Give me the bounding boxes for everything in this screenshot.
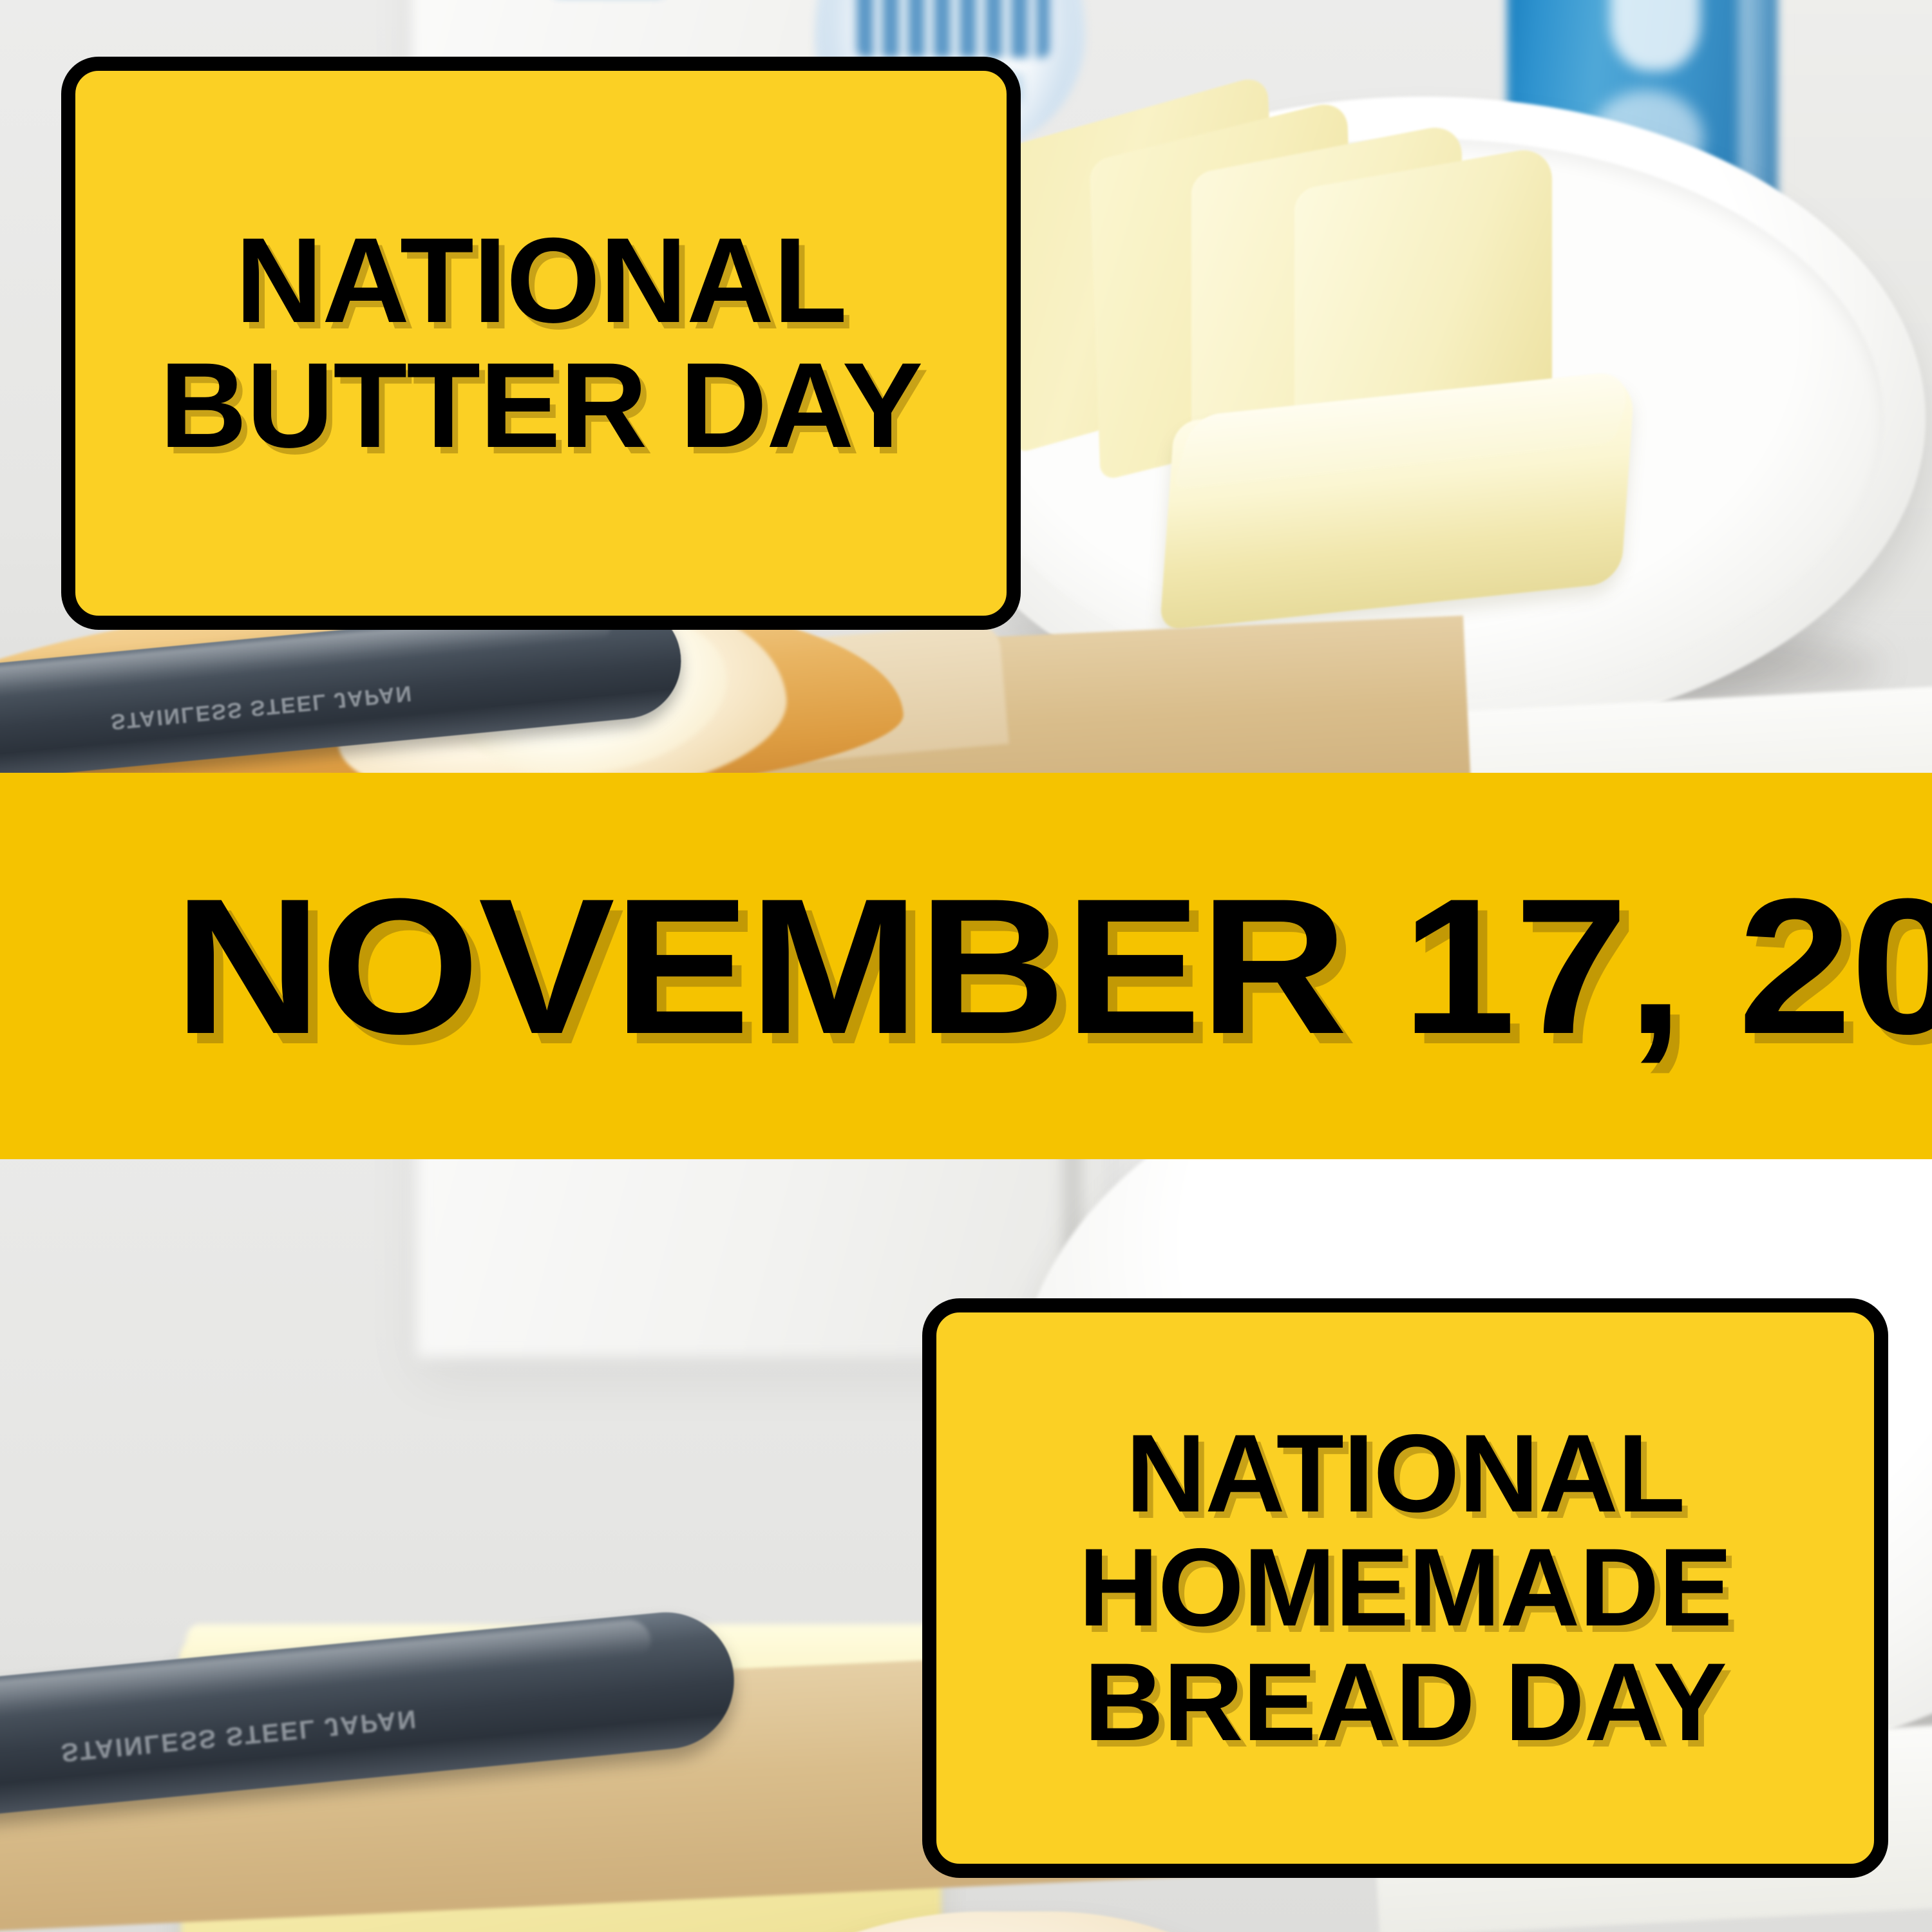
- date-banner: NOVEMBER 17, 2025: [0, 773, 1932, 1159]
- badge-butter-line-1: NATIONAL: [235, 213, 846, 348]
- badge-national-homemade-bread-day: NATIONAL HOMEMADE BREAD DAY: [922, 1298, 1888, 1878]
- badge-butter-label: NATIONAL BUTTER DAY: [134, 218, 948, 468]
- carton-logo-wordmark: [857, 0, 1050, 58]
- badge-bread-line-1: NATIONAL: [1126, 1412, 1685, 1535]
- badge-bread-line-2: HOMEMADE: [1079, 1526, 1732, 1649]
- badge-bread-line-3: BREAD DAY: [1084, 1640, 1727, 1764]
- poster-canvas: STAINLESS STEEL JAPAN: [0, 0, 1932, 1932]
- badge-butter-line-2: BUTTER DAY: [160, 337, 922, 473]
- badge-bread-label: NATIONAL HOMEMADE BREAD DAY: [1053, 1417, 1757, 1759]
- badge-national-butter-day: NATIONAL BUTTER DAY: [61, 57, 1021, 630]
- date-text: NOVEMBER 17, 2025: [174, 877, 1932, 1055]
